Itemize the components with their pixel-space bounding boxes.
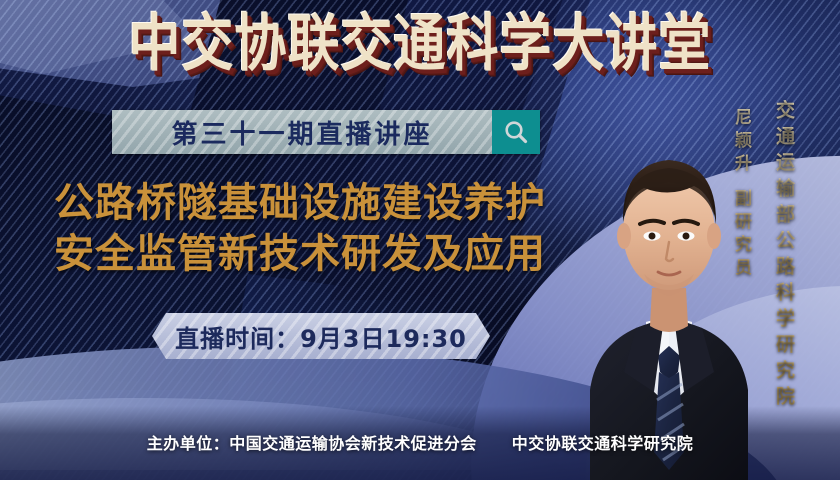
subtitle-banner: 第三十一期直播讲座	[112, 110, 540, 154]
subtitle-banner-bar: 第三十一期直播讲座	[112, 110, 492, 154]
speaker-organization: 交通运输部公路科学研究院	[771, 100, 798, 412]
poster-canvas: 中交协联交通科学大讲堂 第三十一期直播讲座 公路桥隧基础设施建设养护 安全监管新…	[0, 0, 840, 480]
footer-co-organizer: 中交协联交通科学研究院	[512, 434, 694, 453]
footer-organizer: 主办单位：中国交通运输协会新技术促进分会	[147, 434, 477, 453]
speaker-name-title: 尼颖升 副研究员	[729, 108, 754, 281]
main-title: 中交协联交通科学大讲堂	[0, 14, 840, 66]
subtitle-banner-label: 第三十一期直播讲座	[171, 114, 432, 151]
footer: 主办单位：中国交通运输协会新技术促进分会 中交协联交通科学研究院	[0, 430, 840, 454]
search-icon-box[interactable]	[492, 110, 540, 154]
headline: 公路桥隧基础设施建设养护 安全监管新技术研发及应用	[0, 178, 600, 280]
search-icon	[503, 119, 529, 145]
main-title-text: 中交协联交通科学大讲堂	[128, 14, 711, 75]
live-time-label: 直播时间：9月3日19:30	[175, 319, 467, 354]
headline-line-2: 安全监管新技术研发及应用	[0, 229, 600, 280]
bg-bottom-glow	[120, 370, 540, 480]
live-time-badge: 直播时间：9月3日19:30	[152, 313, 490, 359]
headline-line-1: 公路桥隧基础设施建设养护	[0, 178, 600, 229]
